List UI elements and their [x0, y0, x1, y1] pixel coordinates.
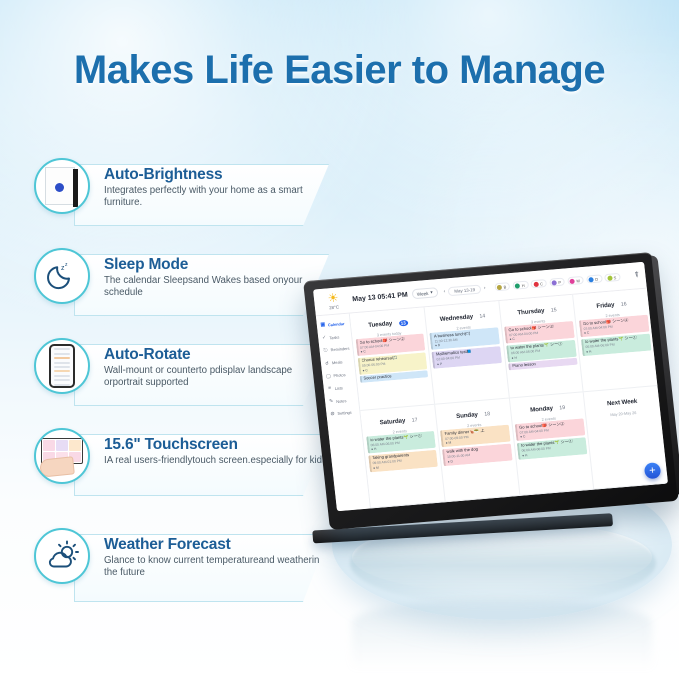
marketing-banner: Makes Life Easier to Manage Auto-Brightn… [0, 0, 679, 679]
day-name: Tuesday [368, 320, 393, 329]
member-chip[interactable]: C [531, 279, 548, 288]
day-column-tuesday[interactable]: Tuesday 13 3 events today Go to school🎒 … [350, 307, 435, 410]
phone-art [49, 344, 75, 388]
member-initial: D [595, 276, 598, 281]
member-chip[interactable]: H [512, 281, 529, 290]
member-color-dot [607, 275, 613, 280]
temperature-label: 28°C [329, 304, 339, 310]
wifi-icon[interactable]: ⍒ [634, 270, 640, 280]
hand-touch-art [39, 438, 85, 474]
device-bezel: ☀ 28°C May 13 05:41 PM Week ▾ ‹ May 13-1… [303, 252, 679, 530]
phone-icon [34, 338, 90, 394]
day-number: 16 [621, 301, 627, 307]
day-number: 14 [479, 313, 485, 319]
event-card[interactable]: to water the plants🌱 シー① 06:00 AM-06:00 … [581, 333, 651, 356]
page-title: Makes Life Easier to Manage [0, 48, 679, 93]
sidebar-item-label: Tasks [329, 334, 339, 340]
member-initial: B [503, 284, 506, 289]
member-initial: H [521, 282, 524, 287]
day-column-monday[interactable]: Monday 19 2 events Go to school🎒 シーン② 07… [509, 392, 594, 495]
member-chip[interactable]: M [567, 276, 584, 285]
sun-icon: ☀ [327, 292, 339, 305]
feature-description: The calendar Sleepsand Wakes based onyou… [104, 275, 329, 300]
chevron-down-icon: ▾ [430, 290, 433, 296]
day-name: Monday [530, 405, 553, 414]
next-week-button[interactable]: › [484, 285, 486, 291]
svg-text:z: z [65, 262, 68, 268]
feature-touchscreen: 15.6" Touchscreen IA real users-friendly… [34, 428, 334, 506]
calendar-icon: ▣ [320, 322, 327, 328]
feature-description: IA real users-friendlytouch screen.espec… [104, 455, 329, 467]
member-color-dot [570, 278, 576, 283]
feature-auto-brightness: Auto-Brightness Integrates perfectly wit… [34, 158, 334, 236]
datetime-label: May 13 05:41 PM [352, 291, 408, 303]
meal-icon: ☌ [324, 360, 331, 366]
day-number: 19 [559, 405, 565, 411]
day-name: Sunday [456, 411, 478, 420]
day-number: 15 [551, 307, 557, 313]
feature-title: Auto-Brightness [104, 166, 329, 184]
member-initial: S [613, 275, 616, 280]
view-selector[interactable]: Week ▾ [411, 287, 438, 299]
sidebar-item-label: Photos [333, 372, 346, 378]
calendar-body: ▣Calendar ✓Tasks ⎋Reminders ☌Meals ▢Phot… [316, 289, 668, 512]
member-chips: B H C P M D S [494, 273, 620, 292]
sidebar-item-label: Reminders [330, 346, 349, 353]
hand-touch-tablet-icon [34, 428, 90, 484]
feature-description: Wall-mount or counterto pdisplav landsca… [104, 365, 329, 390]
event-card[interactable]: Taking grandparents 09:00 AM-01:00 PM ● … [368, 449, 438, 472]
bell-icon: ⎋ [322, 347, 329, 353]
prev-week-button[interactable]: ‹ [443, 289, 445, 295]
note-icon: ✎ [328, 398, 335, 404]
member-initial: C [540, 281, 543, 286]
member-color-dot [588, 277, 594, 282]
feature-auto-rotate: Auto-Rotate Wall-mount or counterto pdis… [34, 338, 334, 416]
feature-title: Auto-Rotate [104, 346, 329, 364]
sidebar-item-label: Notes [336, 398, 347, 404]
event-card[interactable]: to water the plants🌱 シー① 06:00 AM-06:00 … [517, 437, 587, 460]
feature-title: 15.6" Touchscreen [104, 436, 329, 454]
view-selector-label: Week [416, 290, 428, 296]
next-week-label: Next Week [607, 398, 638, 407]
day-number: 18 [484, 411, 490, 417]
smart-display-icon [34, 158, 90, 214]
member-color-dot [533, 281, 539, 286]
day-name: Friday [596, 301, 615, 309]
day-name: Thursday [517, 307, 545, 316]
feature-sleep-mode: Sleep Mode The calendar Sleepsand Wakes … [34, 248, 334, 326]
list-icon: ≡ [327, 386, 334, 392]
member-chip[interactable]: P [549, 277, 565, 286]
feature-description: Integrates perfectly with your home as a… [104, 185, 329, 210]
member-chip[interactable]: D [586, 274, 603, 283]
day-name: Saturday [379, 417, 405, 426]
member-chip[interactable]: S [604, 273, 620, 282]
feature-title: Sleep Mode [104, 256, 329, 274]
sidebar-item-settings[interactable]: ⚙Settings [326, 406, 360, 421]
member-initial: P [558, 279, 561, 284]
check-icon: ✓ [321, 335, 328, 341]
member-initial: M [576, 278, 580, 283]
sidebar-item-label: Lists [335, 385, 344, 391]
event-card[interactable]: walk with the dog 10:00-11:00 AM ● D [442, 443, 512, 466]
day-column-thursday[interactable]: Thursday 15 3 events Go to school🎒 シーン② … [499, 295, 584, 398]
weather-widget[interactable]: ☀ 28°C [319, 291, 347, 311]
week-grid: Tuesday 13 3 events today Go to school🎒 … [350, 289, 668, 509]
member-color-dot [515, 283, 521, 288]
day-column-sunday[interactable]: Sunday 18 2 events Family dinner🍗🥗 上 07:… [435, 398, 520, 501]
sidebar-item-label: Settings [337, 410, 352, 416]
member-chip[interactable]: B [494, 282, 510, 291]
sidebar-item-label: Meals [332, 360, 343, 366]
photo-icon: ▢ [325, 373, 332, 379]
event-card[interactable]: Mathematics test📘 02:00-04:00 PM ● P [432, 346, 502, 369]
day-column-friday[interactable]: Friday 16 2 events Go to school🎒 シーン② 07… [573, 289, 657, 392]
day-name: Wednesday [439, 313, 473, 323]
member-color-dot [552, 280, 558, 285]
moon-zzz-icon: z z [34, 248, 90, 304]
day-column-wednesday[interactable]: Wednesday 14 2 events A business lunch🍽 … [424, 301, 509, 404]
week-navigator: ‹ May 13-19 › [443, 284, 486, 296]
feature-weather-forecast: Weather Forecast Glance to know current … [34, 528, 334, 614]
day-number: 17 [411, 417, 417, 423]
floor-reflection [352, 600, 652, 670]
feature-description: Glance to know current temperatureand we… [104, 555, 329, 580]
day-number: 13 [398, 319, 408, 326]
feature-title: Weather Forecast [104, 536, 329, 554]
sun-cloud-icon [34, 528, 90, 584]
sidebar-item-label: Calendar [328, 321, 345, 327]
week-range-label[interactable]: May 13-19 [448, 284, 482, 296]
gear-icon: ⚙ [329, 411, 336, 417]
day-column-saturday[interactable]: Saturday 17 2 events to water the plants… [360, 405, 445, 508]
smart-calendar-display: ☀ 28°C May 13 05:41 PM Week ▾ ‹ May 13-1… [303, 252, 679, 530]
next-week-header: Next Week [587, 388, 657, 412]
smart-display-art [42, 165, 82, 207]
member-color-dot [497, 284, 503, 289]
device-screen: ☀ 28°C May 13 05:41 PM Week ▾ ‹ May 13-1… [313, 262, 668, 511]
